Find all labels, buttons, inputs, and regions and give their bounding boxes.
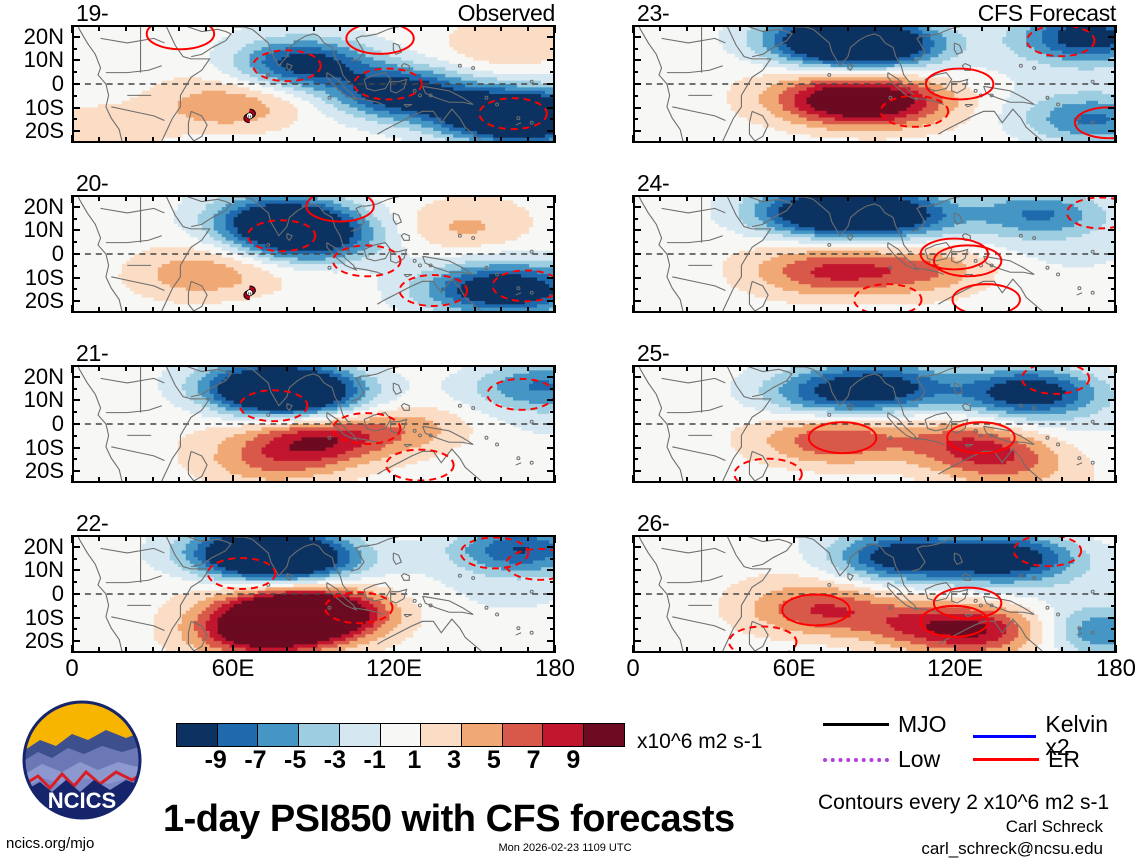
y-axis-tick-label: 10N <box>2 559 64 581</box>
x-tick-minor <box>1061 137 1063 143</box>
x-tick <box>554 195 556 203</box>
x-tick-minor <box>766 195 768 201</box>
y-tick-minor <box>72 241 77 243</box>
x-tick-minor <box>927 307 929 313</box>
y-tick-minor <box>550 71 555 73</box>
x-tick-minor <box>900 535 902 541</box>
x-tick <box>793 645 795 653</box>
x-tick-minor <box>500 477 502 483</box>
y-tick-minor <box>72 265 77 267</box>
x-tick-minor <box>1088 477 1090 483</box>
y-tick-minor <box>1111 95 1116 97</box>
x-tick-minor <box>900 25 902 31</box>
x-tick-minor <box>874 647 876 653</box>
y-tick-minor <box>1111 388 1116 390</box>
x-tick-minor <box>178 365 180 371</box>
colorbar[interactable] <box>176 723 625 747</box>
x-tick-minor <box>981 195 983 201</box>
x-tick-minor <box>259 307 261 313</box>
y-axis-tick-label: 20N <box>2 366 64 388</box>
x-tick <box>554 25 556 33</box>
x-tick-minor <box>259 477 261 483</box>
x-tick-minor <box>981 535 983 541</box>
y-tick-minor <box>633 581 638 583</box>
y-tick-minor <box>72 605 77 607</box>
x-tick-minor <box>366 25 368 31</box>
y-tick-minor <box>633 265 638 267</box>
x-tick-minor <box>686 477 688 483</box>
x-tick-minor <box>659 647 661 653</box>
column-header-obs: Observed <box>72 2 555 25</box>
x-tick-minor <box>474 535 476 541</box>
x-tick-minor <box>739 137 741 143</box>
panel-field: H <box>74 197 553 311</box>
x-tick-minor <box>152 477 154 483</box>
colorbar-swatch[interactable] <box>543 724 584 746</box>
x-tick-minor <box>420 647 422 653</box>
y-tick <box>72 107 80 109</box>
y-tick <box>72 130 80 132</box>
x-tick-minor <box>420 477 422 483</box>
y-tick <box>547 640 555 642</box>
x-tick-minor <box>1035 365 1037 371</box>
x-tick-minor <box>900 647 902 653</box>
y-tick-minor <box>550 558 555 560</box>
x-tick-minor <box>205 195 207 201</box>
map-plot-area[interactable] <box>72 365 555 483</box>
x-tick-minor <box>98 25 100 31</box>
y-tick <box>72 423 80 425</box>
colorbar-tick-label: -9 <box>196 748 236 773</box>
y-tick-minor <box>1111 605 1116 607</box>
map-plot-area[interactable] <box>633 25 1116 143</box>
y-tick <box>547 36 555 38</box>
panel-field <box>635 27 1114 141</box>
y-tick-minor <box>1111 48 1116 50</box>
x-tick-minor <box>1035 647 1037 653</box>
x-tick-minor <box>927 25 929 31</box>
x-tick-minor <box>527 195 529 201</box>
x-tick <box>1115 195 1117 203</box>
x-tick-minor <box>766 25 768 31</box>
y-tick-minor <box>633 605 638 607</box>
x-tick <box>954 135 956 143</box>
y-tick <box>547 59 555 61</box>
y-tick-minor <box>550 388 555 390</box>
x-tick-minor <box>125 307 127 313</box>
colorbar-swatch[interactable] <box>381 724 422 746</box>
x-tick-minor <box>474 137 476 143</box>
x-tick-minor <box>447 25 449 31</box>
y-tick <box>72 253 80 255</box>
x-tick <box>954 475 956 483</box>
y-axis-tick-label: 10S <box>2 267 64 289</box>
x-tick-minor <box>447 477 449 483</box>
x-tick-minor <box>900 307 902 313</box>
x-tick-minor <box>152 137 154 143</box>
x-tick <box>393 475 395 483</box>
y-tick <box>547 300 555 302</box>
x-tick-minor <box>1061 477 1063 483</box>
page-title: 1-day PSI850 with CFS forecasts <box>163 800 735 838</box>
x-tick <box>793 365 795 373</box>
x-tick-minor <box>686 137 688 143</box>
x-tick-minor <box>1008 137 1010 143</box>
x-tick <box>232 25 234 33</box>
y-tick <box>1108 376 1116 378</box>
x-tick-minor <box>766 647 768 653</box>
x-tick-minor <box>1061 365 1063 371</box>
x-tick <box>954 195 956 203</box>
x-tick <box>393 365 395 373</box>
x-axis-tick-label: 180 <box>1076 657 1135 681</box>
x-tick <box>554 305 556 313</box>
x-tick-minor <box>820 477 822 483</box>
x-tick-minor <box>98 647 100 653</box>
y-tick-minor <box>72 411 77 413</box>
x-tick-minor <box>927 647 929 653</box>
y-tick <box>633 277 641 279</box>
x-tick-minor <box>178 195 180 201</box>
panel-field <box>74 367 553 481</box>
x-tick-minor <box>339 307 341 313</box>
y-axis-tick-label: 0 <box>2 73 64 95</box>
x-tick-minor <box>766 477 768 483</box>
x-tick-minor <box>474 647 476 653</box>
y-tick <box>1108 569 1116 571</box>
credit-author: Carl Schreck <box>833 818 1103 835</box>
y-tick <box>1108 617 1116 619</box>
y-tick-minor <box>550 411 555 413</box>
legend-label: ER <box>1048 748 1080 771</box>
x-tick-minor <box>447 195 449 201</box>
y-axis-tick-label: 20S <box>2 290 64 312</box>
x-tick-minor <box>981 137 983 143</box>
x-tick-minor <box>981 307 983 313</box>
x-tick-minor <box>125 535 127 541</box>
y-axis-tick-label: 10N <box>2 219 64 241</box>
y-tick <box>633 376 641 378</box>
x-tick-minor <box>474 25 476 31</box>
x-tick-minor <box>659 137 661 143</box>
x-tick-minor <box>874 307 876 313</box>
x-tick-minor <box>339 365 341 371</box>
x-tick-minor <box>98 195 100 201</box>
x-tick <box>1115 365 1117 373</box>
y-axis-tick-label: 10S <box>2 437 64 459</box>
colorbar-swatch[interactable] <box>421 724 462 746</box>
y-tick <box>1108 277 1116 279</box>
x-axis-tick-label: 0 <box>32 657 112 681</box>
map-plot-area[interactable]: H <box>72 25 555 143</box>
colorbar-tick-label: 5 <box>474 748 514 773</box>
x-tick-minor <box>686 25 688 31</box>
x-tick-minor <box>847 137 849 143</box>
x-tick <box>232 645 234 653</box>
colorbar-tick-label: -3 <box>315 748 355 773</box>
y-tick-minor <box>633 558 638 560</box>
legend-label: Low <box>898 748 940 771</box>
y-tick <box>1108 130 1116 132</box>
colorbar-swatch[interactable] <box>340 724 381 746</box>
x-tick <box>232 365 234 373</box>
x-tick-minor <box>500 307 502 313</box>
x-tick <box>632 135 634 143</box>
x-tick-minor <box>927 137 929 143</box>
x-tick-minor <box>178 307 180 313</box>
x-tick-minor <box>739 477 741 483</box>
x-tick-minor <box>847 307 849 313</box>
y-tick-minor <box>550 288 555 290</box>
y-tick <box>72 83 80 85</box>
y-tick-minor <box>72 558 77 560</box>
x-tick-minor <box>1035 25 1037 31</box>
x-tick-minor <box>686 307 688 313</box>
y-tick <box>1108 593 1116 595</box>
x-tick-minor <box>366 195 368 201</box>
x-tick-minor <box>259 195 261 201</box>
y-tick-minor <box>633 241 638 243</box>
x-tick-minor <box>313 647 315 653</box>
x-tick-minor <box>527 365 529 371</box>
x-tick-minor <box>125 25 127 31</box>
x-tick-minor <box>313 535 315 541</box>
y-tick-minor <box>633 288 638 290</box>
x-tick-minor <box>447 307 449 313</box>
x-tick <box>71 645 73 653</box>
panel-field: H <box>74 27 553 141</box>
y-tick-minor <box>1111 558 1116 560</box>
credit-email: carl_schreck@ncsu.edu <box>833 840 1103 857</box>
x-tick-minor <box>874 535 876 541</box>
x-tick <box>393 135 395 143</box>
y-tick <box>72 399 80 401</box>
x-tick-minor <box>125 477 127 483</box>
map-plot-area[interactable] <box>72 535 555 653</box>
x-tick-minor <box>313 195 315 201</box>
y-tick <box>633 546 641 548</box>
contour-interval-note: Contours every 2 x10^6 m2 s-1 <box>818 792 1109 813</box>
x-tick-minor <box>527 25 529 31</box>
y-tick-minor <box>633 628 638 630</box>
y-tick-minor <box>550 605 555 607</box>
x-tick-minor <box>874 137 876 143</box>
y-tick-minor <box>1111 288 1116 290</box>
map-plot-area[interactable] <box>633 535 1116 653</box>
x-tick-minor <box>739 365 741 371</box>
y-tick <box>1108 640 1116 642</box>
colorbar-tick-label: -7 <box>235 748 275 773</box>
y-tick-minor <box>72 288 77 290</box>
x-tick-minor <box>686 647 688 653</box>
x-tick-minor <box>205 647 207 653</box>
colorbar-tick-label: -1 <box>355 748 395 773</box>
y-tick <box>633 59 641 61</box>
x-tick <box>632 305 634 313</box>
y-tick <box>547 253 555 255</box>
y-tick <box>1108 300 1116 302</box>
x-tick-minor <box>659 307 661 313</box>
x-tick-minor <box>313 307 315 313</box>
x-tick-minor <box>847 647 849 653</box>
x-tick <box>71 195 73 203</box>
x-tick-minor <box>420 25 422 31</box>
x-tick <box>554 365 556 373</box>
y-tick-minor <box>633 411 638 413</box>
y-tick <box>1108 447 1116 449</box>
colorbar-tick-label: -5 <box>275 748 315 773</box>
y-tick <box>72 593 80 595</box>
colorbar-swatch[interactable] <box>299 724 340 746</box>
x-tick-minor <box>874 477 876 483</box>
x-tick-minor <box>286 137 288 143</box>
legend-line-swatch <box>823 723 889 726</box>
y-tick-minor <box>1111 218 1116 220</box>
x-tick-minor <box>527 477 529 483</box>
x-tick-minor <box>500 195 502 201</box>
x-tick-minor <box>339 195 341 201</box>
y-tick <box>1108 546 1116 548</box>
x-tick-minor <box>447 365 449 371</box>
site-url[interactable]: ncics.org/mjo <box>6 836 94 851</box>
x-tick-minor <box>927 477 929 483</box>
colorbar-units-label: x10^6 m2 s-1 <box>637 731 762 752</box>
x-tick-minor <box>659 477 661 483</box>
y-tick-minor <box>72 581 77 583</box>
x-tick <box>1115 135 1117 143</box>
x-tick-minor <box>178 535 180 541</box>
x-tick-minor <box>259 365 261 371</box>
x-tick-minor <box>820 535 822 541</box>
x-tick-minor <box>1061 647 1063 653</box>
x-axis-tick-label: 120E <box>915 657 995 681</box>
y-tick-minor <box>633 218 638 220</box>
x-tick-minor <box>713 477 715 483</box>
y-tick <box>633 253 641 255</box>
x-tick-minor <box>366 647 368 653</box>
x-tick-minor <box>713 307 715 313</box>
ncics-logo: NCICS <box>22 700 142 820</box>
y-tick-minor <box>1111 581 1116 583</box>
colorbar-swatch[interactable] <box>258 724 299 746</box>
x-tick-minor <box>474 477 476 483</box>
panel-field <box>74 537 553 651</box>
y-tick-minor <box>1111 435 1116 437</box>
x-tick-minor <box>1008 365 1010 371</box>
x-tick <box>632 365 634 373</box>
y-tick-minor <box>1111 628 1116 630</box>
x-tick-minor <box>313 477 315 483</box>
x-tick <box>71 25 73 33</box>
x-tick-minor <box>420 195 422 201</box>
x-tick-minor <box>847 477 849 483</box>
legend-line-swatch <box>973 758 1039 761</box>
x-tick <box>1115 645 1117 653</box>
x-tick-minor <box>900 365 902 371</box>
y-tick <box>547 470 555 472</box>
y-tick <box>72 36 80 38</box>
map-plot-area[interactable] <box>633 365 1116 483</box>
x-tick-minor <box>900 195 902 201</box>
y-tick <box>633 423 641 425</box>
x-tick-minor <box>500 535 502 541</box>
y-tick-minor <box>550 48 555 50</box>
x-tick-minor <box>820 137 822 143</box>
x-tick <box>71 135 73 143</box>
x-tick-minor <box>927 195 929 201</box>
x-tick <box>1115 305 1117 313</box>
map-plot-area[interactable]: H <box>72 195 555 313</box>
colorbar-tick-label: 7 <box>514 748 554 773</box>
colorbar-swatch[interactable] <box>218 724 259 746</box>
x-tick-minor <box>1088 647 1090 653</box>
y-tick <box>633 107 641 109</box>
x-tick-minor <box>286 195 288 201</box>
y-tick-minor <box>1111 265 1116 267</box>
y-tick <box>1108 107 1116 109</box>
legend-item-mjo: MJO <box>823 713 947 736</box>
x-tick-minor <box>339 535 341 541</box>
x-tick-minor <box>447 647 449 653</box>
column-header-cfs: CFS Forecast <box>633 2 1116 25</box>
y-tick-minor <box>72 48 77 50</box>
x-tick-minor <box>286 535 288 541</box>
x-tick <box>232 135 234 143</box>
y-tick-minor <box>72 458 77 460</box>
y-tick-minor <box>550 581 555 583</box>
y-tick-minor <box>72 71 77 73</box>
x-tick-minor <box>820 195 822 201</box>
x-tick-minor <box>1088 25 1090 31</box>
x-tick-minor <box>205 477 207 483</box>
y-tick-minor <box>1111 71 1116 73</box>
x-tick-minor <box>820 365 822 371</box>
x-tick <box>393 25 395 33</box>
x-tick <box>1115 475 1117 483</box>
y-tick <box>1108 423 1116 425</box>
x-tick-minor <box>927 365 929 371</box>
x-tick <box>954 365 956 373</box>
colorbar-swatch[interactable] <box>503 724 544 746</box>
x-tick <box>1115 535 1117 543</box>
y-tick <box>547 130 555 132</box>
y-tick-minor <box>550 118 555 120</box>
panel-field <box>635 367 1114 481</box>
x-tick-minor <box>98 365 100 371</box>
x-tick-minor <box>420 535 422 541</box>
map-plot-area[interactable] <box>633 195 1116 313</box>
x-tick-minor <box>1088 307 1090 313</box>
x-tick <box>793 475 795 483</box>
y-tick <box>547 569 555 571</box>
y-axis-tick-label: 10S <box>2 607 64 629</box>
y-tick-minor <box>633 71 638 73</box>
colorbar-tick-label: 9 <box>553 748 593 773</box>
x-tick-minor <box>874 25 876 31</box>
y-tick <box>633 617 641 619</box>
x-tick-minor <box>739 535 741 541</box>
legend-item-low: Low <box>823 748 940 771</box>
y-tick <box>1108 399 1116 401</box>
y-tick <box>1108 470 1116 472</box>
x-tick-minor <box>659 195 661 201</box>
colorbar-swatch[interactable] <box>462 724 503 746</box>
colorbar-swatch[interactable] <box>177 724 218 746</box>
x-tick-minor <box>874 195 876 201</box>
x-tick-minor <box>739 307 741 313</box>
x-tick-minor <box>178 477 180 483</box>
colorbar-swatch[interactable] <box>584 724 624 746</box>
